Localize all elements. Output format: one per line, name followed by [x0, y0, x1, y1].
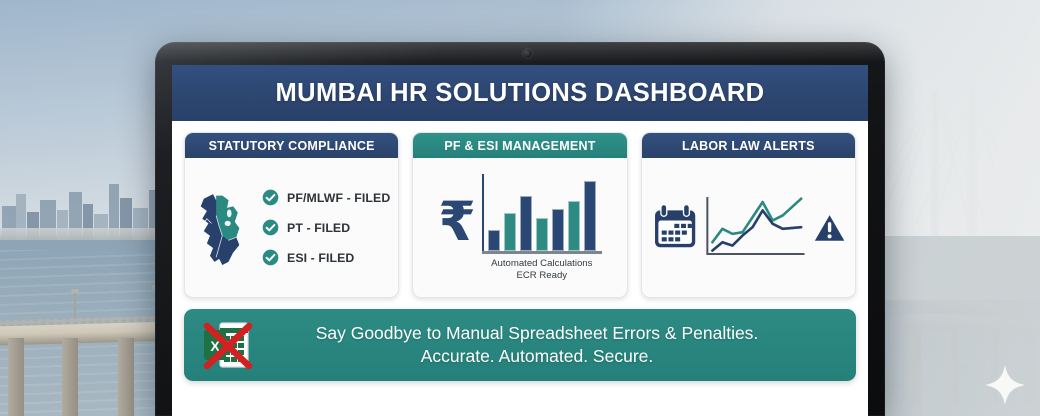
chart-bar [552, 209, 564, 251]
webcam-dot-icon [523, 49, 532, 58]
sparkle-star-icon [983, 363, 1027, 407]
chart-x-axis [482, 251, 602, 254]
chart-bar [536, 218, 548, 251]
compliance-list: PF/MLWF - FILED PT - FILED [262, 189, 390, 266]
maharashtra-map-icon [193, 176, 250, 280]
banner-line-2: Accurate. Automated. Secure. [268, 345, 806, 368]
calendar-icon [650, 199, 700, 257]
list-item[interactable]: ESI - FILED [262, 249, 390, 266]
chart-bar [568, 201, 580, 251]
cards-row: STATUTORY COMPLIANCE [172, 121, 868, 298]
trend-line-chart-icon [704, 189, 808, 267]
check-circle-icon [262, 249, 279, 266]
bar-chart-plot [482, 174, 602, 254]
chart-bar [504, 213, 516, 251]
pf-esi-bar-chart: Automated Calculations ECR Ready [482, 174, 602, 282]
rupee-symbol-icon: ₹ [438, 195, 476, 249]
card-labor-law-alerts[interactable]: LABOR LAW ALERTS [641, 132, 856, 298]
list-item-label: ESI - FILED [287, 251, 354, 265]
check-circle-icon [262, 189, 279, 206]
laptop-device: MUMBAI HR SOLUTIONS DASHBOARD STATUTORY … [155, 42, 885, 416]
card-title-pf-esi-management: PF & ESI MANAGEMENT [413, 133, 626, 158]
laptop-screen: MUMBAI HR SOLUTIONS DASHBOARD STATUTORY … [172, 65, 868, 416]
chart-bar [584, 181, 596, 251]
promo-banner[interactable]: X Say Goodbye to Manual Spreadsheet Erro… [184, 309, 856, 381]
chart-caption: Automated Calculations ECR Ready [491, 258, 592, 282]
card-body-statutory-compliance: PF/MLWF - FILED PT - FILED [185, 158, 398, 297]
chart-bar [520, 196, 532, 251]
check-circle-icon [262, 219, 279, 236]
card-body-pf-esi-management: ₹ Automated Calculations ECR Ready [413, 158, 626, 297]
chart-bar [488, 230, 500, 251]
list-item-label: PT - FILED [287, 221, 350, 235]
list-item-label: PF/MLWF - FILED [287, 191, 390, 205]
warning-triangle-icon [812, 208, 847, 248]
dashboard-header: MUMBAI HR SOLUTIONS DASHBOARD [172, 65, 868, 121]
bridge-lamp [74, 292, 76, 318]
banner-text: Say Goodbye to Manual Spreadsheet Errors… [268, 322, 840, 368]
list-item[interactable]: PT - FILED [262, 219, 390, 236]
list-item[interactable]: PF/MLWF - FILED [262, 189, 390, 206]
excel-spreadsheet-crossed-out-icon: X [200, 318, 254, 372]
card-title-statutory-compliance: STATUTORY COMPLIANCE [185, 133, 398, 158]
bridge-pier [62, 338, 78, 416]
screenshot-stage: MUMBAI HR SOLUTIONS DASHBOARD STATUTORY … [0, 0, 1040, 416]
card-statutory-compliance[interactable]: STATUTORY COMPLIANCE [184, 132, 399, 298]
card-pf-esi-management[interactable]: PF & ESI MANAGEMENT ₹ Automated Calculat… [412, 132, 627, 298]
chart-caption-line1: Automated Calculations [491, 258, 592, 269]
card-title-labor-law-alerts: LABOR LAW ALERTS [642, 133, 855, 158]
banner-line-1: Say Goodbye to Manual Spreadsheet Errors… [316, 323, 759, 343]
bridge-pier [118, 338, 134, 416]
chart-y-axis [482, 174, 485, 254]
page-title: MUMBAI HR SOLUTIONS DASHBOARD [275, 79, 764, 108]
chart-caption-line2: ECR Ready [516, 270, 567, 281]
bridge-pier [8, 338, 24, 416]
card-body-labor-law-alerts [642, 158, 855, 297]
